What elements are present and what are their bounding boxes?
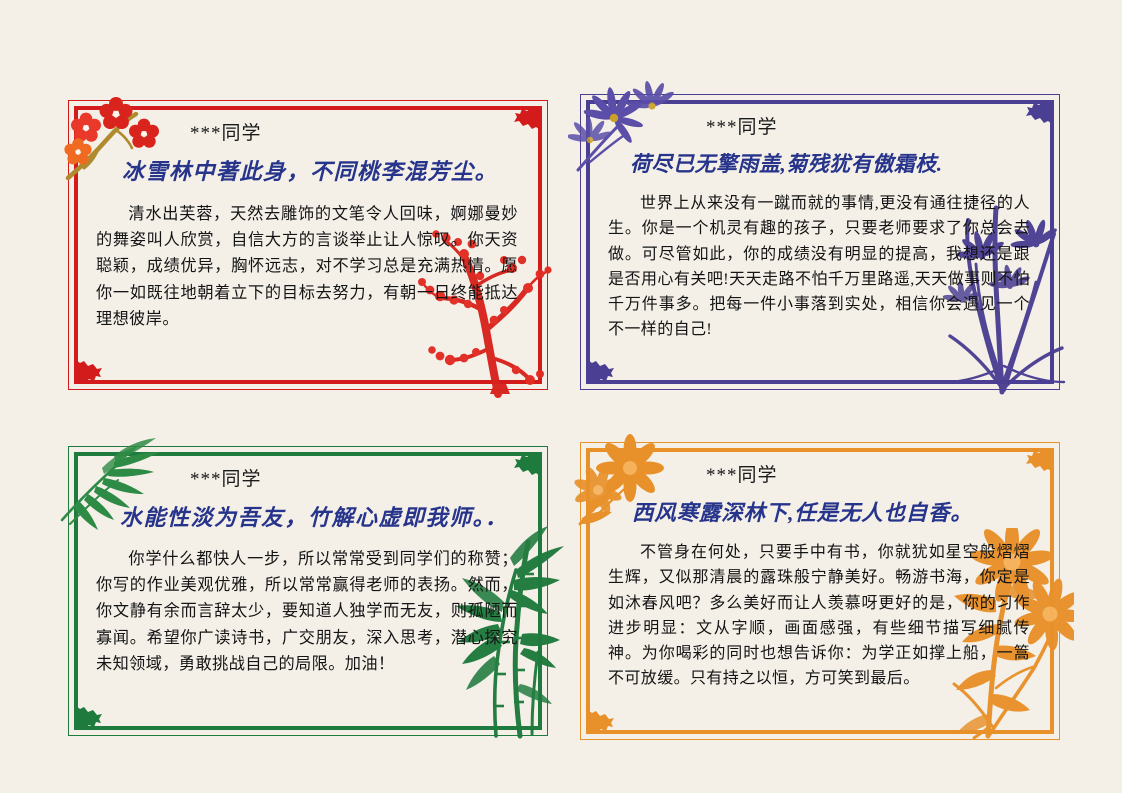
comment-card-chrysanthemum: ***同学 西风寒露深林下,任是无人也自香。 不管身在何处，只要手中有书，你就犹… bbox=[580, 442, 1060, 740]
student-salutation: ***同学 bbox=[706, 112, 1034, 139]
card-content: ***同学 冰雪林中著此身，不同桃李混芳尘。 清水出芙蓉，天然去雕饰的文笔令人回… bbox=[68, 100, 548, 390]
card-motto: 冰雪林中著此身，不同桃李混芳尘。 bbox=[122, 154, 522, 186]
student-salutation: ***同学 bbox=[706, 460, 1034, 487]
card-body-text: 世界上从来没有一蹴而就的事情,更没有通往捷径的人生。你是一个机灵有趣的孩子，只要… bbox=[608, 191, 1030, 343]
comment-card-plum: ***同学 冰雪林中著此身，不同桃李混芳尘。 清水出芙蓉，天然去雕饰的文笔令人回… bbox=[68, 100, 548, 390]
student-salutation: ***同学 bbox=[190, 464, 522, 491]
student-salutation: ***同学 bbox=[190, 118, 522, 145]
card-grid: ***同学 冰雪林中著此身，不同桃李混芳尘。 清水出芙蓉，天然去雕饰的文笔令人回… bbox=[0, 0, 1122, 793]
card-motto: 西风寒露深林下,任是无人也自香。 bbox=[632, 496, 1034, 527]
comment-card-bamboo: ***同学 水能性淡为吾友，竹解心虚即我师。． 你学什么都快人一步，所以常常受到… bbox=[68, 446, 548, 736]
card-body-text: 不管身在何处，只要手中有书，你就犹如星空般熠熠生辉，又似那清晨的露珠般宁静美好。… bbox=[608, 540, 1030, 692]
card-motto: 荷尽已无擎雨盖,菊残犹有傲霜枝. bbox=[630, 148, 1034, 178]
card-content: ***同学 西风寒露深林下,任是无人也自香。 不管身在何处，只要手中有书，你就犹… bbox=[580, 442, 1060, 740]
card-motto: 水能性淡为吾友，竹解心虚即我师。． bbox=[120, 500, 522, 532]
card-content: ***同学 水能性淡为吾友，竹解心虚即我师。． 你学什么都快人一步，所以常常受到… bbox=[68, 446, 548, 736]
card-body-text: 你学什么都快人一步，所以常常受到同学们的称赞；你写的作业美观优雅，所以常常赢得老… bbox=[96, 546, 518, 677]
card-body-text: 清水出芙蓉，天然去雕饰的文笔令人回味，婀娜曼妙的舞姿叫人欣赏，自信大方的言谈举止… bbox=[96, 201, 518, 332]
comment-card-orchid: ***同学 荷尽已无擎雨盖,菊残犹有傲霜枝. 世界上从来没有一蹴而就的事情,更没… bbox=[580, 94, 1060, 390]
card-content: ***同学 荷尽已无擎雨盖,菊残犹有傲霜枝. 世界上从来没有一蹴而就的事情,更没… bbox=[580, 94, 1060, 390]
